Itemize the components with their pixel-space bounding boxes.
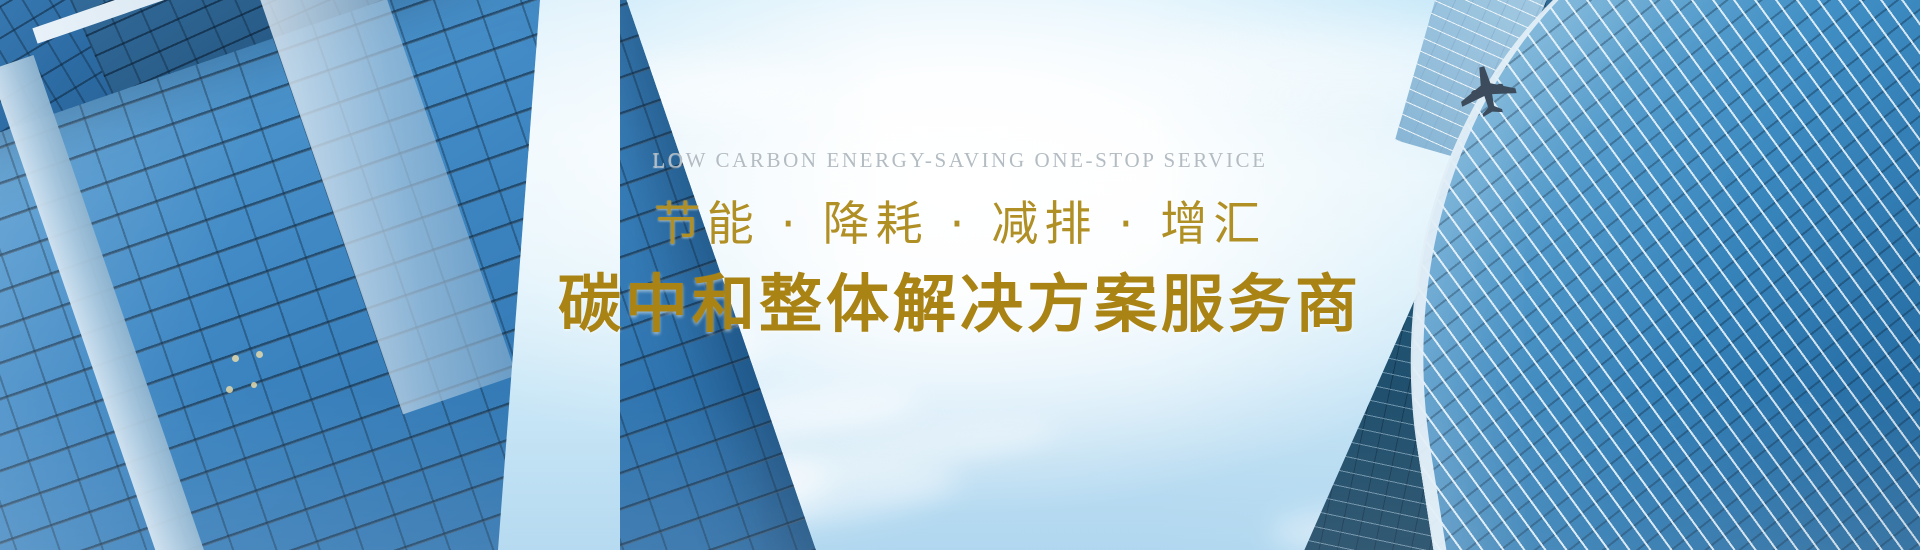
window-reflection — [232, 355, 239, 362]
hero-banner: LOW CARBON ENERGY-SAVING ONE-STOP SERVIC… — [0, 0, 1920, 550]
window-reflection — [251, 382, 257, 388]
headline-main-chinese: 碳中和整体解决方案服务商 — [0, 268, 1920, 342]
tagline-english: LOW CARBON ENERGY-SAVING ONE-STOP SERVIC… — [0, 150, 1920, 171]
window-reflection — [256, 351, 263, 358]
headline-subtitle-chinese: 节能 · 降耗 · 减排 · 增汇 — [0, 197, 1920, 252]
banner-copy: LOW CARBON ENERGY-SAVING ONE-STOP SERVIC… — [0, 150, 1920, 343]
window-reflection — [226, 386, 233, 393]
